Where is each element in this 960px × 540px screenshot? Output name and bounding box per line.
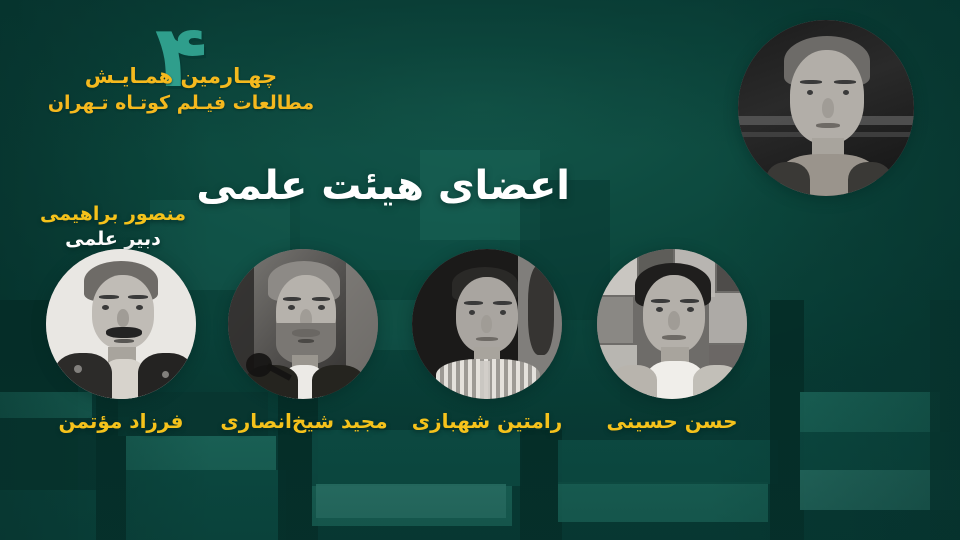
portrait-member-3 xyxy=(46,249,196,399)
member-name-3: فرزاد مؤتمن xyxy=(44,409,198,433)
logo-line-edition: چهـارمین همـایـش xyxy=(26,64,336,88)
portrait-member-1 xyxy=(412,249,562,399)
page-title: اعضای هیئت علمی xyxy=(196,163,570,209)
chair-caption: منصور براهیمی دبیر علمی xyxy=(14,203,212,250)
portrait-image xyxy=(412,249,562,399)
chair-name: منصور براهیمی xyxy=(14,203,212,225)
portrait-image xyxy=(738,20,914,196)
portrait-image xyxy=(228,249,378,399)
portrait-image xyxy=(597,249,747,399)
conference-poster: ۴ چهـارمین همـایـش مطالعات فیـلم کوتـاه … xyxy=(0,0,960,540)
portrait-image xyxy=(46,249,196,399)
conference-logo: ۴ چهـارمین همـایـش مطالعات فیـلم کوتـاه … xyxy=(26,24,336,114)
chair-role: دبیر علمی xyxy=(14,228,212,250)
portrait-member-0 xyxy=(597,249,747,399)
logo-line-subject: مطالعات فیـلم کوتـاه تـهران xyxy=(26,92,336,114)
member-name-0: حسن حسینی xyxy=(597,409,747,433)
member-name-2: مجید شیخ‌انصاری xyxy=(215,409,393,433)
member-name-1: رامتین شهبازی xyxy=(407,409,567,433)
portrait-member-2 xyxy=(228,249,378,399)
portrait-chair xyxy=(738,20,914,196)
